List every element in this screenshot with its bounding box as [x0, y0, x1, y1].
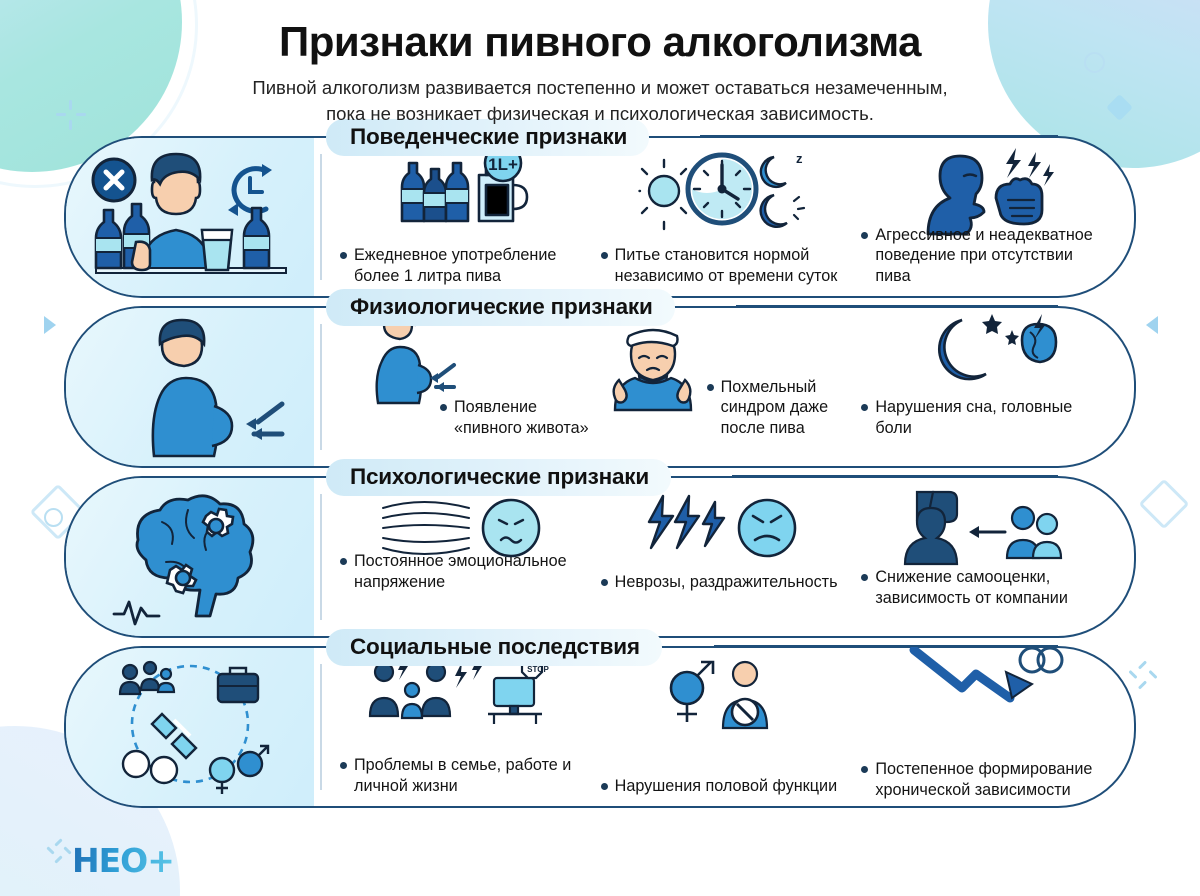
thumbs-down-person-group-icon — [853, 484, 1114, 572]
list-item-label: Постепенное формирование хронической зав… — [875, 759, 1110, 800]
illustration-broken-chain-social-links — [66, 648, 314, 806]
bullet-column: Нарушения сна, головные боли — [853, 306, 1114, 468]
lightning-bolts-angry-face-icon — [593, 484, 854, 572]
section-title-psychological: Психологические признаки — [326, 459, 671, 496]
list-item: Снижение самооценки, зависимость от комп… — [861, 567, 1110, 608]
bullet-columns: Появление «пивного живота» — [332, 306, 1114, 468]
section-title-social: Социальные последствия — [326, 629, 662, 666]
list-item-label: Неврозы, раздражительность — [615, 572, 838, 592]
bullet-columns: STOP Проблемы в семье, работе и личной ж… — [332, 646, 1114, 808]
bullet-column: Похмельный синдром даже после пива — [593, 306, 854, 468]
bullet-dot — [340, 762, 347, 769]
page-title: Признаки пивного алкоголизма — [0, 18, 1200, 65]
bullet-dot — [861, 574, 868, 581]
sparkle-bottom-left — [46, 838, 72, 864]
bullet-column: Постепенное формирование хронической зав… — [853, 646, 1114, 808]
list-item-label: Появление «пивного живота» — [454, 397, 589, 438]
bullet-dot — [861, 766, 868, 773]
bullet-dot — [601, 252, 608, 259]
list-item-label: Нарушения половой функции — [615, 776, 837, 796]
list-item-label: Ежедневное употребление более 1 литра пи… — [354, 245, 589, 286]
list-item: Появление «пивного живота» — [440, 397, 589, 438]
bullet-dot — [440, 404, 447, 411]
page-subtitle: Пивной алкоголизм развивается постепенно… — [160, 75, 1040, 126]
section-behavioral: Поведенческие признаки — [64, 136, 1136, 298]
bullet-column: Агрессивное и неадекватное поведение при… — [853, 136, 1114, 298]
bullet-dot — [861, 232, 868, 239]
badge-stop: STOP — [528, 665, 550, 674]
bullet-column: Появление «пивного живота» — [332, 306, 593, 468]
moon-stars-brain-insomnia-icon — [853, 310, 1114, 380]
list-item-label: Снижение самооценки, зависимость от комп… — [875, 567, 1110, 608]
section-physiological: Физиологические признаки — [64, 306, 1136, 468]
list-item: Похмельный синдром даже после пива — [707, 377, 850, 438]
brand-logo: НЕО+ — [72, 841, 174, 880]
bullet-dot — [340, 558, 347, 565]
illustration-brain-with-gears — [66, 478, 314, 636]
three-bottles-and-one-liter-mug-icon: 1L+ — [332, 144, 593, 232]
bullet-dot — [601, 579, 608, 586]
section-divider — [320, 324, 322, 450]
list-item-label: Похмельный синдром даже после пива — [721, 377, 850, 438]
illustration-man-with-beer-belly — [66, 308, 314, 466]
list-item: Постепенное формирование хронической зав… — [861, 759, 1110, 800]
list-item: Неврозы, раздражительность — [601, 572, 850, 592]
list-item: Проблемы в семье, работе и личной жизни — [340, 755, 589, 796]
bullet-dot — [340, 252, 347, 259]
shouting-man-with-fist-icon — [853, 144, 1114, 232]
section-header-rule — [736, 305, 1058, 307]
list-item-label: Агрессивное и неадекватное поведение при… — [875, 225, 1110, 286]
illustration-man-with-beer-bottles — [66, 138, 314, 296]
bullet-dot — [707, 384, 714, 391]
bullet-columns: 1L+ Ежедневное употребление более 1 литр… — [332, 136, 1114, 298]
section-header-rule — [700, 135, 1058, 137]
section-divider — [320, 154, 322, 280]
bullet-column: Нарушения половой функции — [593, 646, 854, 808]
list-item: Питье становится нормой независимо от вр… — [601, 245, 850, 286]
bullet-column: 1L+ Ежедневное употребление более 1 литр… — [332, 136, 593, 298]
list-item: Постоянное эмоциональное напряжение — [340, 551, 589, 592]
bullet-dot — [861, 404, 868, 411]
list-item-label: Проблемы в семье, работе и личной жизни — [354, 755, 589, 796]
list-item-label: Нарушения сна, головные боли — [875, 397, 1110, 438]
section-divider — [320, 494, 322, 620]
bullet-column: Неврозы, раздражительность — [593, 476, 854, 638]
list-item: Нарушения сна, головные боли — [861, 397, 1110, 438]
section-psychological: Психологические признаки — [64, 476, 1136, 638]
sections-list: Поведенческие признаки — [0, 136, 1200, 808]
list-item-label: Постоянное эмоциональное напряжение — [354, 551, 589, 592]
list-item: Нарушения половой функции — [601, 776, 850, 796]
infographic-header: Признаки пивного алкоголизма Пивной алко… — [0, 0, 1200, 126]
sun-clock-moon-icon: z — [593, 144, 854, 232]
list-item: Агрессивное и неадекватное поведение при… — [861, 225, 1110, 286]
bullet-column: Снижение самооценки, зависимость от комп… — [853, 476, 1114, 638]
list-item: Ежедневное употребление более 1 литра пи… — [340, 245, 589, 286]
list-item-label: Питье становится нормой независимо от вр… — [615, 245, 850, 286]
badge-sleep-z: z — [796, 151, 803, 166]
bullet-column: Постоянное эмоциональное напряжение — [332, 476, 593, 638]
subtitle-line-1: Пивной алкоголизм развивается постепенно… — [160, 75, 1040, 101]
bullet-columns: Постоянное эмоциональное напряжение — [332, 476, 1114, 638]
bullet-dot — [601, 783, 608, 790]
section-header-rule — [714, 645, 1058, 647]
beer-belly-profile-icon — [332, 314, 593, 402]
section-header-rule — [732, 475, 1058, 477]
section-social: Социальные последствия — [64, 646, 1136, 808]
badge-1l-plus: 1L+ — [488, 155, 518, 174]
section-title-physiological: Физиологические признаки — [326, 289, 675, 326]
bullet-column: z Питье становится нормой независимо от … — [593, 136, 854, 298]
downward-arrow-chain-rings-icon — [853, 646, 1114, 708]
bullet-column: STOP Проблемы в семье, работе и личной ж… — [332, 646, 593, 808]
section-divider — [320, 664, 322, 790]
subtitle-line-2: пока не возникает физическая и психологи… — [160, 101, 1040, 127]
